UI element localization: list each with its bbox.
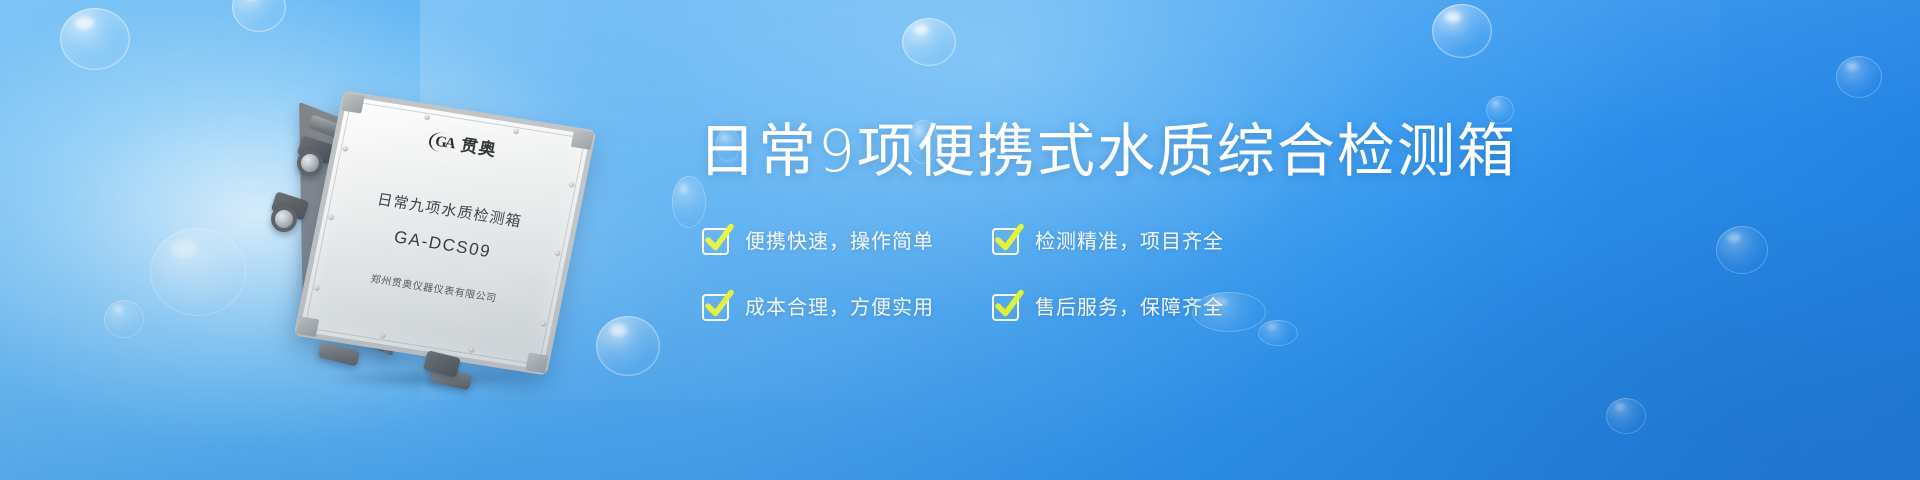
banner-content: 日常9项便携式水质综合检测箱 便携快速，操作简单 检测精准，项目齐全 成本合理，… xyxy=(698,0,1838,480)
case-wheel xyxy=(297,150,323,176)
bubble-decoration xyxy=(232,0,286,32)
bubble-decoration xyxy=(104,300,144,338)
bubble-decoration xyxy=(1836,56,1882,98)
feature-label: 检测精准，项目齐全 xyxy=(1035,231,1224,251)
check-box-icon xyxy=(992,228,1019,255)
feature-label: 成本合理，方便实用 xyxy=(745,297,934,317)
check-box-icon xyxy=(992,294,1019,321)
page-title: 日常9项便携式水质综合检测箱 xyxy=(698,118,1517,185)
feature-list: 便携快速，操作简单 检测精准，项目齐全 成本合理，方便实用 售后服务，保障齐全 xyxy=(702,208,1442,340)
list-item: 成本合理，方便实用 xyxy=(702,274,992,340)
bubble-decoration xyxy=(60,8,130,70)
instrument-case: GA 贯奥 日常九项水质检测箱 GA-DCS09 郑州贯奥仪器仪表有限公司 xyxy=(255,78,635,378)
check-box-icon xyxy=(702,294,729,321)
brand-name: 贯奥 xyxy=(459,137,498,159)
case-label: GA 贯奥 日常九项水质检测箱 GA-DCS09 郑州贯奥仪器仪表有限公司 xyxy=(294,90,597,375)
feature-label: 售后服务，保障齐全 xyxy=(1035,297,1224,317)
list-item: 售后服务，保障齐全 xyxy=(992,274,1282,340)
product-hero-banner: GA 贯奥 日常九项水质检测箱 GA-DCS09 郑州贯奥仪器仪表有限公司 日常… xyxy=(0,0,1920,480)
feature-label: 便携快速，操作简单 xyxy=(745,231,934,251)
list-item: 便携快速，操作简单 xyxy=(702,208,992,274)
product-image: GA 贯奥 日常九项水质检测箱 GA-DCS09 郑州贯奥仪器仪表有限公司 xyxy=(255,78,635,378)
check-box-icon xyxy=(702,228,729,255)
brand-lockup: GA 贯奥 xyxy=(334,116,591,176)
product-label-company: 郑州贯奥仪器仪表有限公司 xyxy=(306,265,561,315)
brand-mark-icon: GA xyxy=(427,131,457,155)
bubble-decoration xyxy=(150,228,246,316)
list-item: 检测精准，项目齐全 xyxy=(992,208,1282,274)
case-wheel xyxy=(271,206,297,232)
